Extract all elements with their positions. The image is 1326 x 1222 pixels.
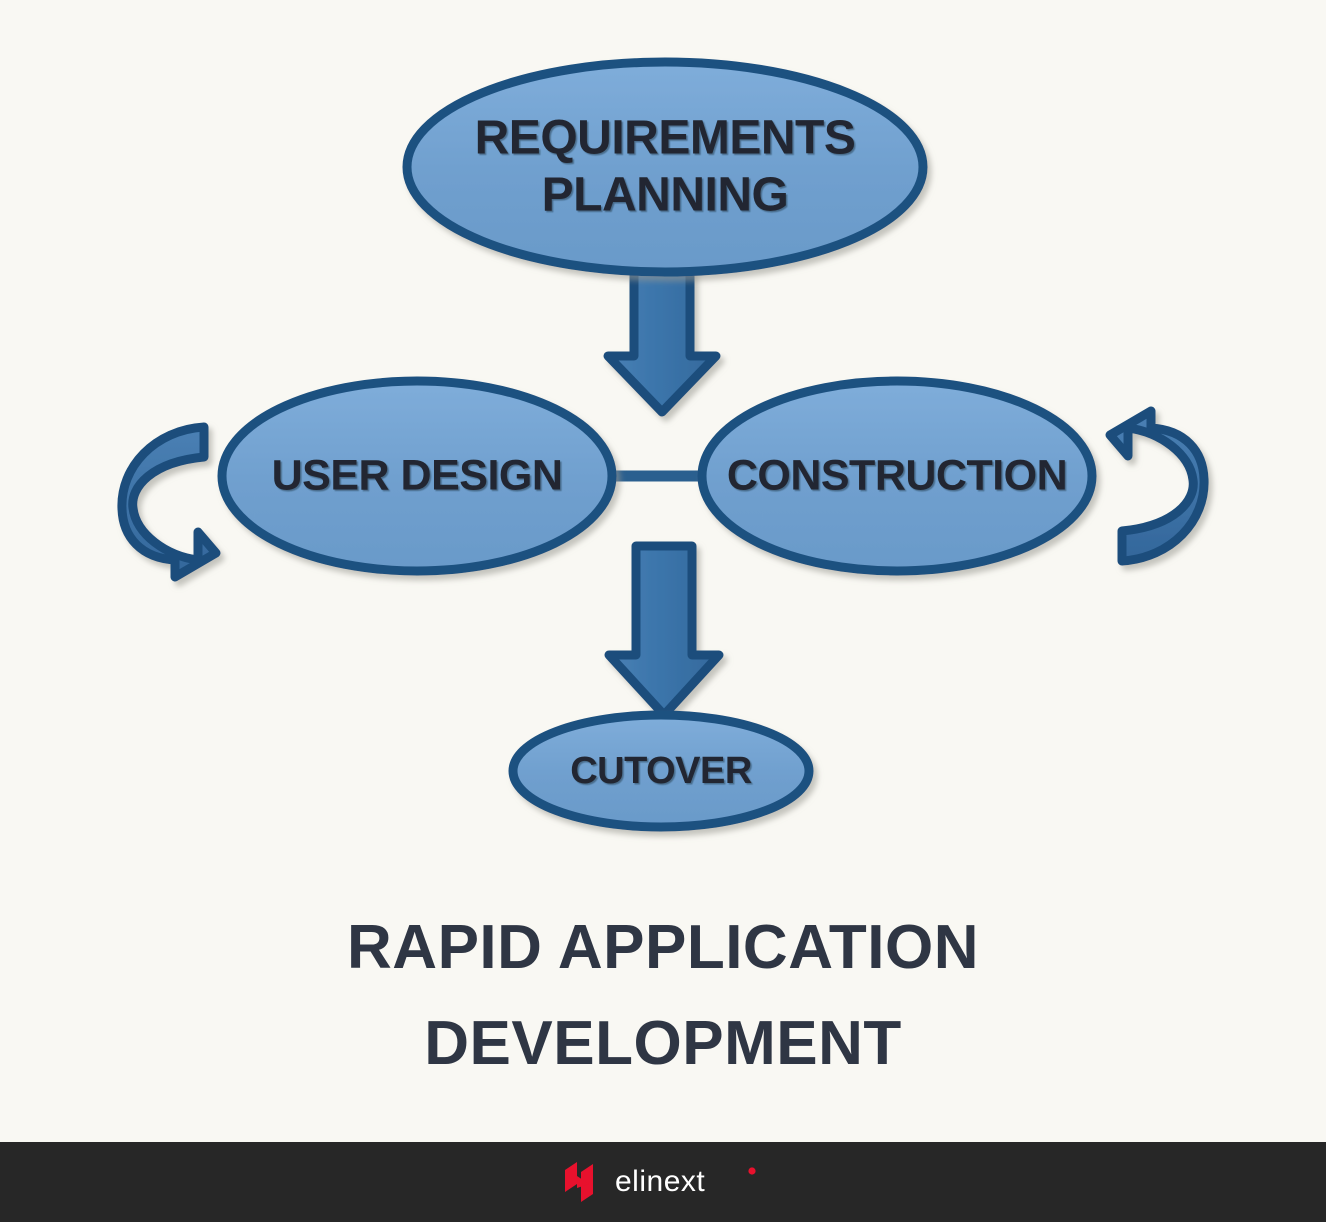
arrow-planning-to-design xyxy=(608,262,716,412)
diagram-page: REQUIREMENTS PLANNING USER DESIGN CONSTR… xyxy=(0,0,1326,1222)
arrow-construction-to-cutover xyxy=(609,546,719,715)
brand-logo[interactable]: elinext xyxy=(561,1160,765,1204)
node-construction-label: CONSTRUCTION xyxy=(727,451,1067,499)
loop-arrow-right xyxy=(1110,411,1204,561)
node-cutover-label: CUTOVER xyxy=(570,750,752,792)
elinext-n-mark-icon xyxy=(561,1160,601,1204)
loop-arrow-left xyxy=(122,427,216,577)
rad-diagram: REQUIREMENTS PLANNING USER DESIGN CONSTR… xyxy=(0,0,1326,1142)
elinext-wordmark: elinext xyxy=(615,1162,765,1202)
node-requirements-planning-shape xyxy=(407,62,923,272)
node-requirements-planning[interactable] xyxy=(407,62,923,272)
footer-bar: elinext xyxy=(0,1142,1326,1222)
node-user-design-label: USER DESIGN xyxy=(272,451,563,499)
node-requirements-planning-label-line2: PLANNING xyxy=(542,169,789,222)
node-requirements-planning-label-line1: REQUIREMENTS xyxy=(475,112,856,165)
svg-text:elinext: elinext xyxy=(615,1165,705,1198)
